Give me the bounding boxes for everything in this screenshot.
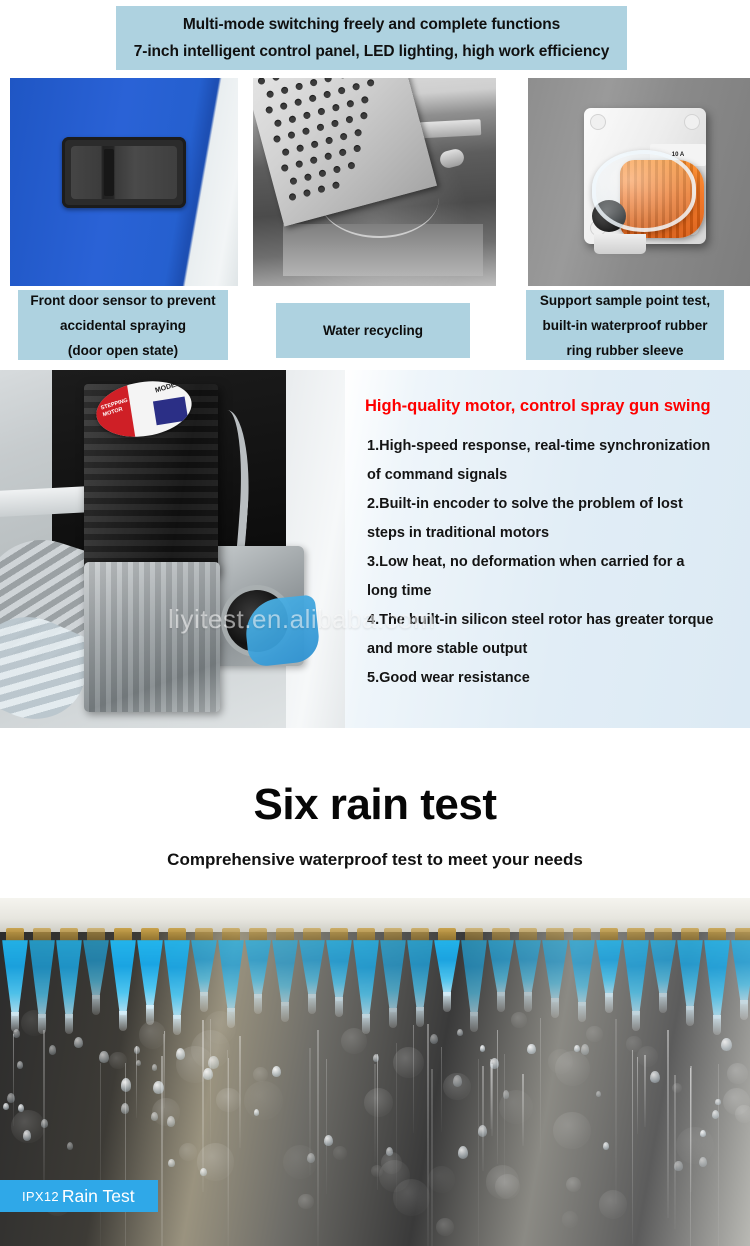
motor-feature-line: 2.Built-in encoder to solve the problem … <box>367 490 744 519</box>
motor-feature-line: 1.High-speed response, real-time synchro… <box>367 432 744 461</box>
caption1-line1: Front door sensor to prevent <box>30 288 215 313</box>
caption3-line2: built-in waterproof rubber <box>543 313 708 338</box>
socket-screw-tl <box>590 114 606 130</box>
ipx-label: Rain Test <box>62 1186 135 1207</box>
header-line-1: Multi-mode switching freely and complete… <box>183 11 560 38</box>
caption1-line3: (door open state) <box>68 338 178 363</box>
header-line-2: 7-inch intelligent control panel, LED li… <box>134 38 609 65</box>
caption-water-recycling: Water recycling <box>276 303 470 358</box>
caption1-line2: accidental spraying <box>60 313 186 338</box>
caption-front-door-sensor: Front door sensor to prevent accidental … <box>18 290 228 360</box>
ipx-rain-test-badge: IPX12 Rain Test <box>0 1180 158 1212</box>
label-blue-field <box>152 396 188 426</box>
clear-waterproof-cover <box>592 150 696 232</box>
motor-feature-line: long time <box>367 577 744 606</box>
six-rain-title: Six rain test <box>0 780 750 830</box>
waterproof-socket-photo: 10 A <box>528 78 750 286</box>
motor-feature-section: STEPPING MOTOR MODEL High-quality motor,… <box>0 370 750 728</box>
ipx-code: IPX12 <box>22 1189 59 1204</box>
caption3-line3: ring rubber sleeve <box>566 338 683 363</box>
six-rain-subtitle: Comprehensive waterproof test to meet yo… <box>0 850 750 870</box>
six-rain-test-section: Six rain test Comprehensive waterproof t… <box>0 740 750 900</box>
caption3-line1: Support sample point test, <box>540 288 710 313</box>
caption2-line1: Water recycling <box>323 318 423 343</box>
socket-screw-tr <box>684 114 700 130</box>
caption-sample-point-test: Support sample point test, built-in wate… <box>526 290 724 360</box>
motor-text-panel: High-quality motor, control spray gun sw… <box>345 370 750 728</box>
header-banner: Multi-mode switching freely and complete… <box>116 6 627 70</box>
motor-feature-line: and more stable output <box>367 635 744 664</box>
motor-feature-line: steps in traditional motors <box>367 519 744 548</box>
door-handle-sensor <box>62 137 186 208</box>
motor-heading: High-quality motor, control spray gun sw… <box>365 396 744 416</box>
motor-feature-list: 1.High-speed response, real-time synchro… <box>357 432 744 693</box>
worm-gearbox <box>84 562 220 712</box>
motor-feature-line: 3.Low heat, no deformation when carried … <box>367 548 744 577</box>
motor-feature-line: of command signals <box>367 461 744 490</box>
water-recycling-photo <box>253 78 496 286</box>
socket-housing: 10 A <box>584 108 706 244</box>
stepping-motor-photo: STEPPING MOTOR MODEL <box>0 370 362 728</box>
motor-feature-line: 4.The built-in silicon steel rotor has g… <box>367 606 744 635</box>
label-model-text: MODEL <box>154 381 180 395</box>
feature-photo-row: 10 A <box>0 78 750 286</box>
front-door-sensor-photo <box>10 78 238 286</box>
motor-feature-line: 5.Good wear resistance <box>367 664 744 693</box>
